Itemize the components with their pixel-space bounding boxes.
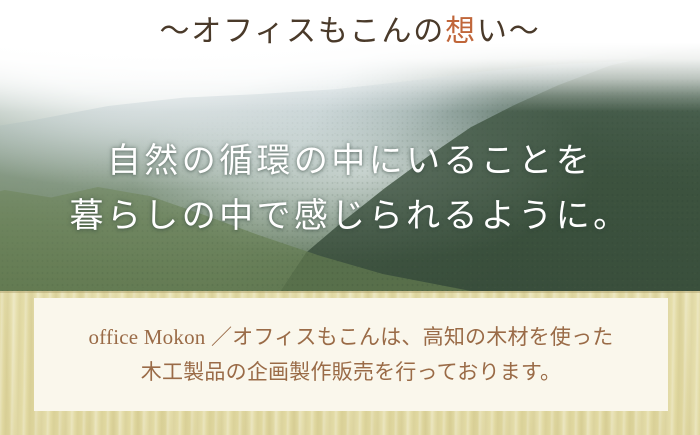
footer-top-divider (0, 291, 700, 293)
title-text-after-accent: い〜 (477, 15, 541, 48)
company-note-card: office Mokon ／オフィスもこんは、高知の木材を使った 木工製品の企画… (34, 298, 668, 411)
promo-banner: 〜オフィスもこんの想い〜 自然の循環の中にいることを 暮らしの中で感じられるよう… (0, 0, 700, 435)
hero-headline-line-2: 暮らしの中で感じられるように。 (0, 189, 700, 244)
hero-headline-line-1: 自然の循環の中にいることを (0, 134, 700, 189)
hero-section: 〜オフィスもこんの想い〜 自然の循環の中にいることを 暮らしの中で感じられるよう… (0, 0, 700, 291)
page-title: 〜オフィスもこんの想い〜 (0, 14, 700, 50)
title-text-before-accent: 〜オフィスもこんの (159, 15, 445, 48)
company-note-line-1: office Mokon ／オフィスもこんは、高知の木材を使った (88, 320, 613, 354)
company-note-line-2: 木工製品の企画製作販売を行っております。 (141, 355, 561, 389)
title-accent-character: 想 (445, 15, 477, 48)
hero-headline: 自然の循環の中にいることを 暮らしの中で感じられるように。 (0, 134, 700, 244)
footer-section: office Mokon ／オフィスもこんは、高知の木材を使った 木工製品の企画… (0, 291, 700, 435)
